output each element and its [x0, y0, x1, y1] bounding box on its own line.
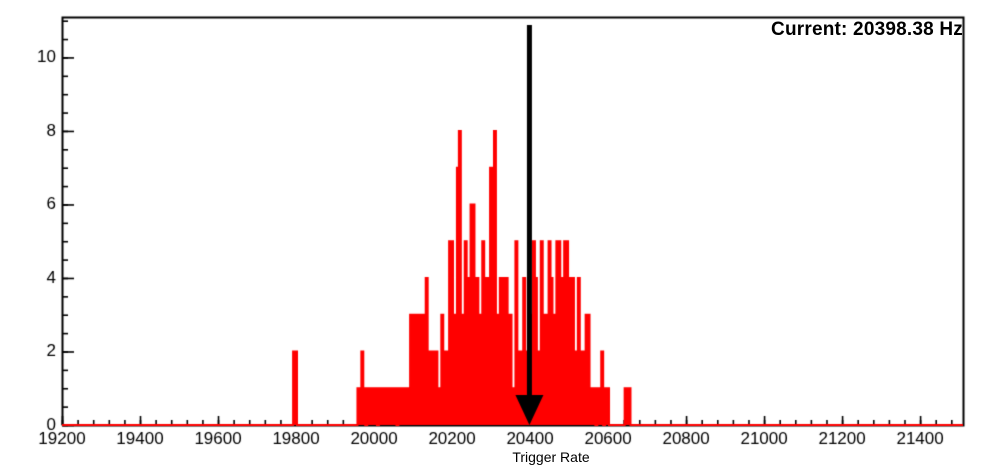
current-rate-readout: Current: 20398.38 Hz [771, 19, 963, 41]
chart-root: Current: 20398.38 Hz Trigger Rate [0, 0, 996, 472]
x-axis-title: Trigger Rate [53, 449, 996, 465]
histogram-plot-canvas[interactable] [0, 0, 996, 472]
